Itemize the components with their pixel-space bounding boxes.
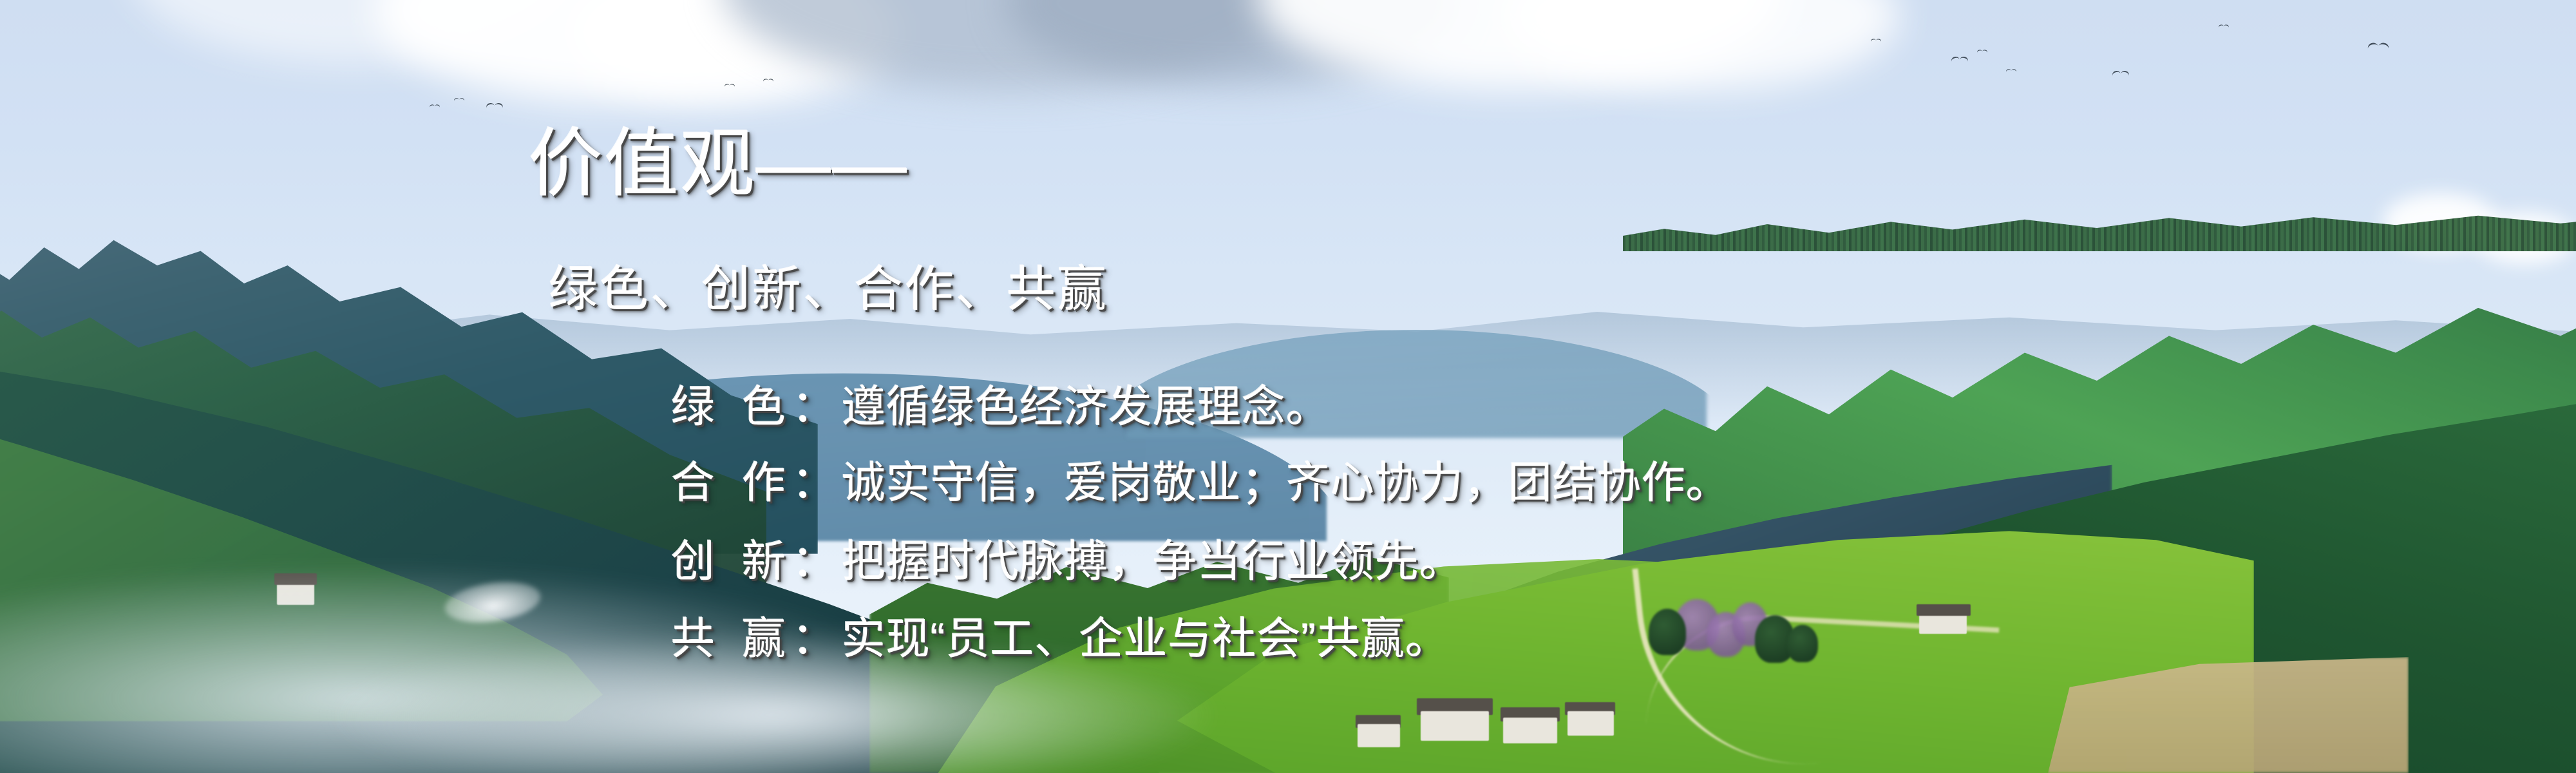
value-colon: ： xyxy=(792,540,837,584)
values-subtitle: 绿色、创新、合作、共赢 xyxy=(549,265,1108,314)
value-item-winwin: 共赢：实现“员工、企业与社会”共赢。 xyxy=(671,617,1450,661)
value-description-cooperation: 诚实守信，爱岗敬业；齐心协力，团结协作。 xyxy=(842,461,1730,505)
value-description-green: 遵循绿色经济发展理念。 xyxy=(842,385,1331,429)
value-colon: ： xyxy=(792,617,837,661)
value-item-innovation: 创新：把握时代脉搏，争当行业领先。 xyxy=(671,540,1464,584)
value-label-winwin: 共赢 xyxy=(671,617,792,661)
value-colon: ： xyxy=(792,385,837,429)
value-item-cooperation: 合作：诚实守信，爱岗敬业；齐心协力，团结协作。 xyxy=(671,461,1730,505)
value-label-innovation: 创新 xyxy=(671,540,792,584)
value-label-cooperation: 合作 xyxy=(671,461,792,505)
value-colon: ： xyxy=(792,461,837,505)
page-title: 价值观—— xyxy=(528,126,908,201)
value-description-innovation: 把握时代脉搏，争当行业领先。 xyxy=(842,540,1464,584)
value-item-green: 绿色：遵循绿色经济发展理念。 xyxy=(671,385,1331,429)
values-banner: 价值观—— 绿色、创新、合作、共赢 绿色：遵循绿色经济发展理念。 合作：诚实守信… xyxy=(0,0,2576,773)
text-content-block: 价值观—— 绿色、创新、合作、共赢 绿色：遵循绿色经济发展理念。 合作：诚实守信… xyxy=(0,0,2576,773)
value-label-green: 绿色 xyxy=(671,385,792,429)
value-description-winwin: 实现“员工、企业与社会”共赢。 xyxy=(842,617,1450,661)
